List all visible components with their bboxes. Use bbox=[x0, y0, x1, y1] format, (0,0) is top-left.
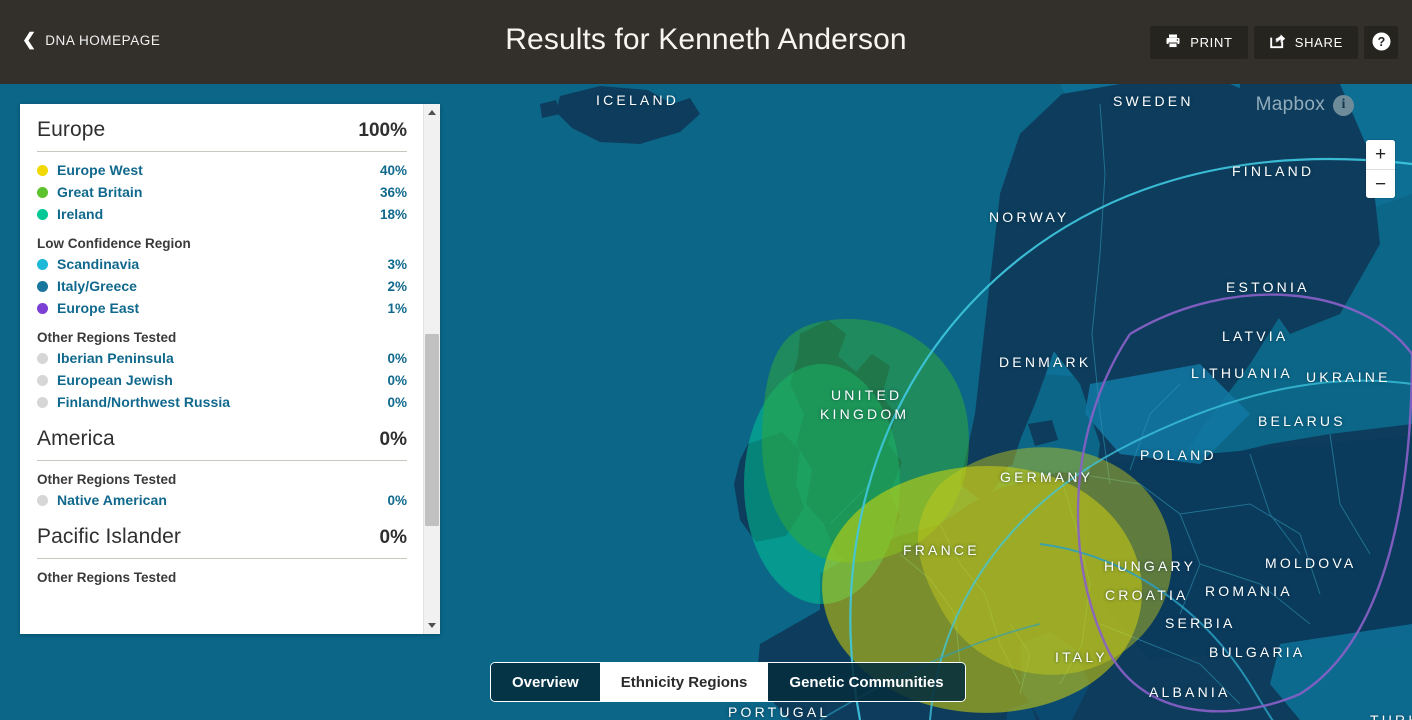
region-percent: 3% bbox=[387, 257, 407, 272]
map-zoom-controls[interactable]: + − bbox=[1366, 140, 1395, 198]
ethnicity-region-row[interactable]: European Jewish0% bbox=[37, 369, 407, 391]
ethnicity-region-row[interactable]: Europe East1% bbox=[37, 297, 407, 319]
ethnicity-subsection-label: Low Confidence Region bbox=[37, 236, 407, 251]
region-name[interactable]: Europe West bbox=[57, 162, 380, 178]
minus-icon[interactable]: − bbox=[1366, 169, 1395, 198]
region-name[interactable]: Italy/Greece bbox=[57, 278, 387, 294]
scrollbar-thumb[interactable] bbox=[425, 334, 439, 526]
share-icon bbox=[1269, 33, 1286, 52]
share-button-label: SHARE bbox=[1295, 35, 1343, 50]
region-percent: 2% bbox=[387, 279, 407, 294]
caret-up-icon[interactable] bbox=[424, 104, 440, 121]
ethnicity-region-row[interactable]: Great Britain36% bbox=[37, 181, 407, 203]
region-color-dot bbox=[37, 187, 48, 198]
help-circle-icon: ? bbox=[1371, 31, 1392, 55]
region-percent: 0% bbox=[387, 351, 407, 366]
ethnicity-group-header: Pacific Islander0% bbox=[37, 511, 407, 549]
region-percent: 18% bbox=[380, 207, 407, 222]
ethnicity-group-header: Europe100% bbox=[37, 104, 407, 142]
region-color-dot bbox=[37, 281, 48, 292]
region-color-dot bbox=[37, 303, 48, 314]
map-view-tabs[interactable]: OverviewEthnicity RegionsGenetic Communi… bbox=[490, 662, 966, 702]
region-percent: 1% bbox=[387, 301, 407, 316]
ethnicity-results-panel: Europe100%Europe West40%Great Britain36%… bbox=[20, 104, 440, 634]
region-percent: 0% bbox=[387, 493, 407, 508]
header-actions: PRINT SHARE ? bbox=[1150, 26, 1398, 59]
region-name[interactable]: Native American bbox=[57, 492, 387, 508]
region-color-dot bbox=[37, 495, 48, 506]
ethnicity-region-row[interactable]: Ireland18% bbox=[37, 203, 407, 225]
svg-text:?: ? bbox=[1377, 35, 1385, 49]
share-button[interactable]: SHARE bbox=[1254, 26, 1358, 59]
region-percent: 36% bbox=[380, 185, 407, 200]
ethnicity-subsection-label: Other Regions Tested bbox=[37, 472, 407, 487]
printer-icon bbox=[1165, 33, 1181, 52]
page-header: ❮ DNA HOMEPAGE Results for Kenneth Ander… bbox=[0, 0, 1412, 84]
divider bbox=[37, 460, 407, 461]
ethnicity-group-percent: 100% bbox=[358, 120, 407, 142]
print-button-label: PRINT bbox=[1190, 35, 1233, 50]
ethnicity-group-name: America bbox=[37, 427, 115, 451]
info-circle-icon[interactable]: i bbox=[1333, 95, 1354, 116]
ethnicity-group-percent: 0% bbox=[380, 429, 407, 451]
ethnicity-results-list: Europe100%Europe West40%Great Britain36%… bbox=[20, 104, 423, 634]
mapbox-attribution: Mapbox i bbox=[1256, 94, 1354, 116]
region-name[interactable]: Europe East bbox=[57, 300, 387, 316]
plus-icon[interactable]: + bbox=[1366, 140, 1395, 169]
region-name[interactable]: Scandinavia bbox=[57, 256, 387, 272]
ethnicity-region-row[interactable]: Europe West40% bbox=[37, 159, 407, 181]
region-color-dot bbox=[37, 353, 48, 364]
dna-results-page: ICELANDSWEDENFINLANDNORWAYESTONIALATVIAL… bbox=[0, 0, 1412, 720]
region-color-dot bbox=[37, 259, 48, 270]
tab-genetic-communities[interactable]: Genetic Communities bbox=[768, 663, 964, 701]
region-color-dot bbox=[37, 375, 48, 386]
ethnicity-region-row[interactable]: Native American0% bbox=[37, 489, 407, 511]
spacer bbox=[37, 152, 407, 159]
ethnicity-region-row[interactable]: Scandinavia3% bbox=[37, 253, 407, 275]
region-color-dot bbox=[37, 397, 48, 408]
region-name[interactable]: European Jewish bbox=[57, 372, 387, 388]
caret-down-icon[interactable] bbox=[424, 617, 440, 634]
ethnicity-subsection-label: Other Regions Tested bbox=[37, 330, 407, 345]
ethnicity-region-row[interactable]: Iberian Peninsula0% bbox=[37, 347, 407, 369]
region-percent: 40% bbox=[380, 163, 407, 178]
ethnicity-group-name: Pacific Islander bbox=[37, 525, 181, 549]
region-name[interactable]: Ireland bbox=[57, 206, 380, 222]
region-name[interactable]: Finland/Northwest Russia bbox=[57, 394, 387, 410]
region-percent: 0% bbox=[387, 395, 407, 410]
tab-overview[interactable]: Overview bbox=[491, 663, 600, 701]
region-percent: 0% bbox=[387, 373, 407, 388]
ethnicity-region-row[interactable]: Finland/Northwest Russia0% bbox=[37, 391, 407, 413]
region-color-dot bbox=[37, 165, 48, 176]
mapbox-wordmark: Mapbox bbox=[1256, 94, 1325, 116]
help-button[interactable]: ? bbox=[1364, 26, 1398, 59]
ethnicity-group-header: America0% bbox=[37, 413, 407, 451]
print-button[interactable]: PRINT bbox=[1150, 26, 1248, 59]
tab-ethnicity-regions[interactable]: Ethnicity Regions bbox=[600, 663, 769, 701]
sidebar-scrollbar[interactable] bbox=[423, 104, 440, 634]
ethnicity-subsection-label: Other Regions Tested bbox=[37, 570, 407, 585]
region-name[interactable]: Great Britain bbox=[57, 184, 380, 200]
divider bbox=[37, 558, 407, 559]
ethnicity-region-row[interactable]: Italy/Greece2% bbox=[37, 275, 407, 297]
ethnicity-group-name: Europe bbox=[37, 118, 105, 142]
ethnicity-group-percent: 0% bbox=[380, 527, 407, 549]
region-color-dot bbox=[37, 209, 48, 220]
region-name[interactable]: Iberian Peninsula bbox=[57, 350, 387, 366]
